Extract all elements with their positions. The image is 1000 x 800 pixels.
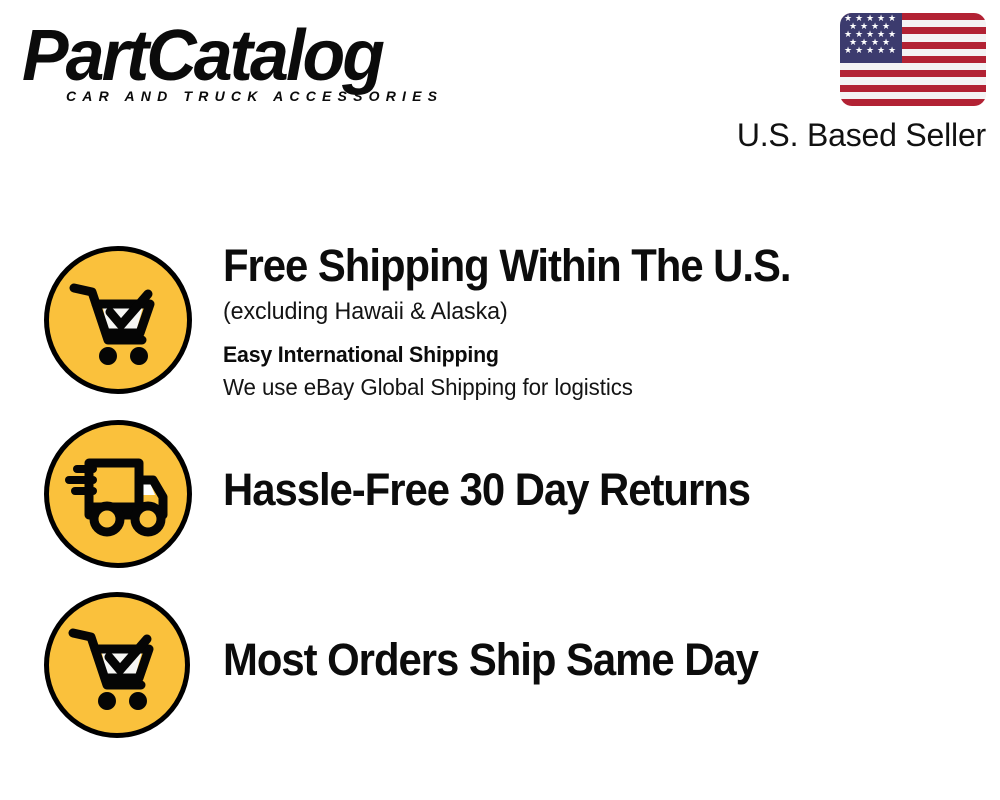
feature-subtitle: (excluding Hawaii & Alaska) bbox=[223, 296, 960, 328]
seller-info-banner: PartCatalog CAR AND TRUCK ACCESSORIES ★ … bbox=[0, 0, 1000, 800]
feature-title: Free Shipping Within The U.S. bbox=[223, 240, 930, 292]
delivery-truck-icon bbox=[44, 420, 192, 568]
feature-row: Free Shipping Within The U.S. (excluding… bbox=[0, 246, 1000, 398]
feature-note: We use eBay Global Shipping for logistic… bbox=[223, 372, 960, 403]
feature-strong: Easy International Shipping bbox=[223, 340, 960, 370]
flag-stripe bbox=[840, 99, 986, 106]
brand-wordmark: PartCatalog bbox=[22, 20, 478, 92]
us-based-seller-label: U.S. Based Seller bbox=[600, 116, 986, 154]
feature-title: Most Orders Ship Same Day bbox=[223, 634, 930, 686]
flag-stripe bbox=[840, 77, 986, 84]
flag-canton: ★ ★ ★ ★ ★ ★ ★ ★ ★ ★ ★ ★ ★ ★ ★ ★ ★ ★ ★ ★ … bbox=[840, 13, 902, 63]
feature-text-block: Most Orders Ship Same Day bbox=[223, 634, 983, 686]
feature-title: Hassle-Free 30 Day Returns bbox=[223, 464, 930, 516]
feature-text-block: Free Shipping Within The U.S. (excluding… bbox=[223, 246, 983, 403]
flag-stripe bbox=[840, 85, 986, 92]
feature-text-block: Hassle-Free 30 Day Returns bbox=[223, 464, 983, 516]
flag-stripe bbox=[840, 63, 986, 70]
flag-stripe bbox=[840, 70, 986, 77]
brand-logo: PartCatalog CAR AND TRUCK ACCESSORIES bbox=[22, 20, 492, 120]
us-flag-icon: ★ ★ ★ ★ ★ ★ ★ ★ ★ ★ ★ ★ ★ ★ ★ ★ ★ ★ ★ ★ … bbox=[840, 13, 986, 106]
shopping-cart-check-icon bbox=[44, 246, 192, 394]
flag-stripe bbox=[840, 92, 986, 99]
feature-row: Most Orders Ship Same Day bbox=[0, 592, 1000, 738]
shopping-cart-check-icon bbox=[44, 592, 190, 738]
feature-row: Hassle-Free 30 Day Returns bbox=[0, 420, 1000, 570]
